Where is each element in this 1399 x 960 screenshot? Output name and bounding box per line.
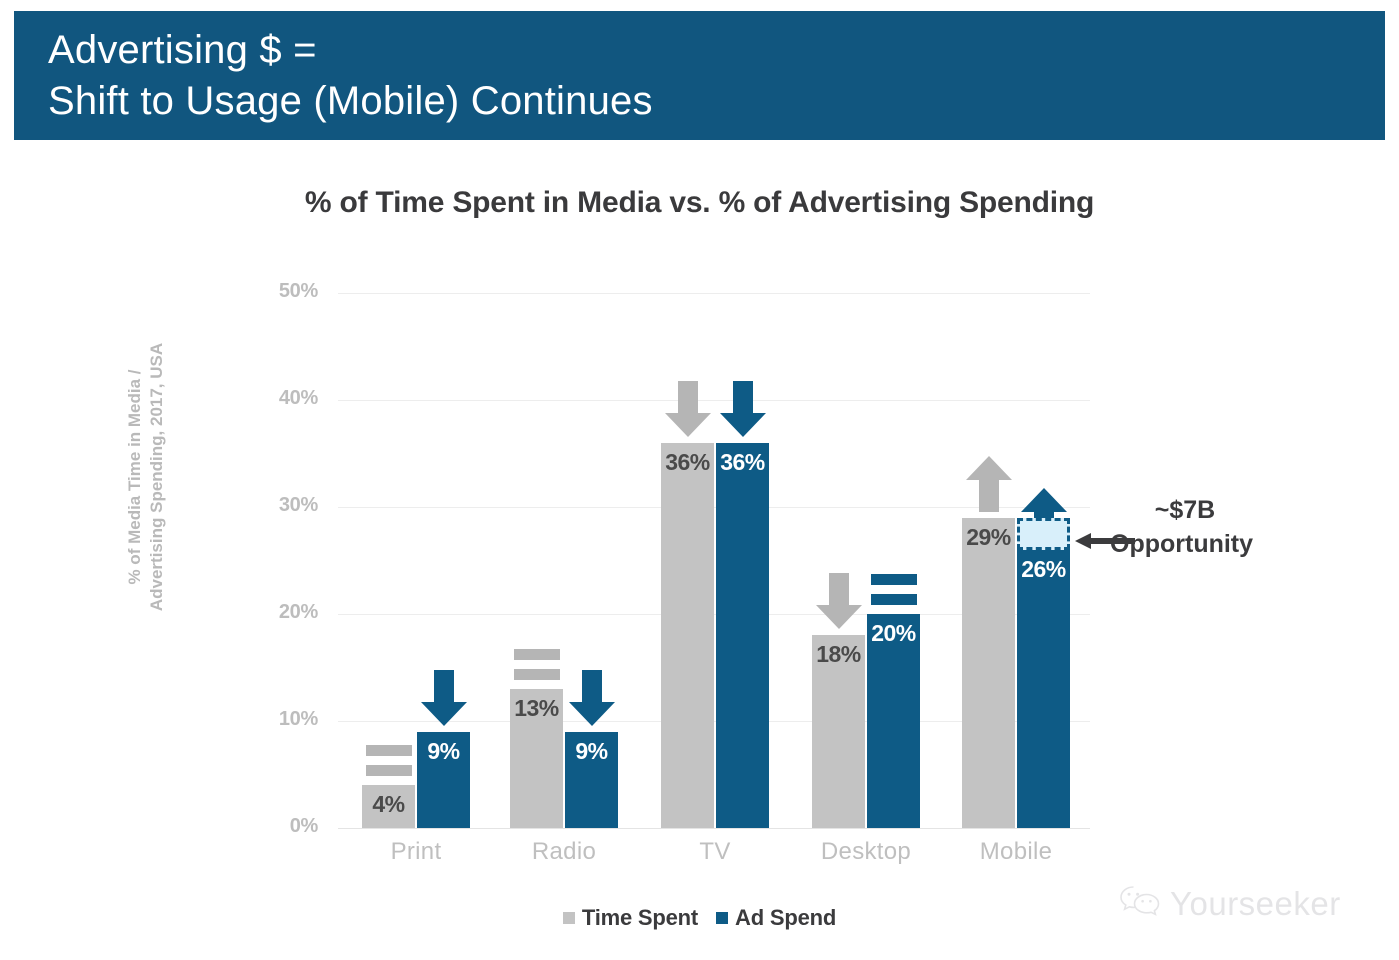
x-tick-radio: Radio [478, 838, 650, 866]
y-tick-0: 0% [256, 815, 318, 838]
trend-down-icon [569, 670, 615, 726]
legend-swatch [716, 912, 728, 924]
watermark: Yourseeker [1119, 884, 1341, 923]
bar-radio-ad-spend: 9% [565, 732, 618, 828]
x-tick-desktop: Desktop [780, 838, 952, 866]
gridline-50 [338, 293, 1090, 294]
trend-down-icon [720, 381, 766, 437]
annotation-arrow-icon [1075, 531, 1135, 556]
legend-label: Time Spent [582, 905, 698, 931]
bar-desktop-ad-spend: 20% [867, 614, 920, 828]
bar-tv-ad-spend: 36% [716, 443, 769, 828]
gridline-0 [338, 828, 1090, 829]
gridline-40 [338, 400, 1090, 401]
bar-tv-time-spent: 36% [661, 443, 714, 828]
x-tick-mobile: Mobile [930, 838, 1102, 866]
trend-equal-icon [514, 647, 560, 683]
bar-value-label: 4% [362, 791, 415, 818]
trend-down-icon [421, 670, 467, 726]
bar-print-ad-spend: 9% [417, 732, 470, 828]
bar-print-time-spent: 4% [362, 785, 415, 828]
legend-label: Ad Spend [735, 905, 836, 931]
legend-item-ad-spend[interactable]: Ad Spend [716, 905, 836, 931]
x-tick-tv: TV [629, 838, 801, 866]
y-tick-50: 50% [256, 280, 318, 303]
bar-value-label: 29% [962, 524, 1015, 551]
bar-value-label: 9% [565, 738, 618, 765]
trend-equal-icon [366, 743, 412, 779]
x-tick-print: Print [330, 838, 502, 866]
opportunity-amount: ~$7B [1110, 493, 1260, 527]
legend-item-time-spent[interactable]: Time Spent [563, 905, 698, 931]
bar-mobile-time-spent: 29% [962, 518, 1015, 828]
bar-value-label: 26% [1017, 556, 1070, 583]
bar-value-label: 13% [510, 695, 563, 722]
y-tick-40: 40% [256, 387, 318, 410]
trend-equal-icon [871, 572, 917, 608]
trend-down-icon [665, 381, 711, 437]
bar-value-label: 36% [661, 449, 714, 476]
y-tick-20: 20% [256, 601, 318, 624]
bar-value-label: 9% [417, 738, 470, 765]
bar-desktop-time-spent: 18% [812, 635, 865, 828]
y-tick-10: 10% [256, 708, 318, 731]
legend-swatch [563, 912, 575, 924]
chart-container: % of Time Spent in Media vs. % of Advert… [0, 0, 1399, 960]
watermark-text: Yourseeker [1170, 885, 1341, 923]
trend-up-icon [966, 456, 1012, 512]
chart-title: % of Time Spent in Media vs. % of Advert… [0, 186, 1399, 220]
y-axis-title: % of Media Time in Media / Advertising S… [124, 287, 168, 667]
bar-value-label: 36% [716, 449, 769, 476]
wechat-icon [1119, 884, 1161, 923]
opportunity-gap-block [1017, 518, 1070, 550]
bar-radio-time-spent: 13% [510, 689, 563, 828]
bar-value-label: 18% [812, 641, 865, 668]
y-tick-30: 30% [256, 494, 318, 517]
trend-down-icon [816, 573, 862, 629]
bar-mobile-ad-spend: 26% [1017, 550, 1070, 828]
bar-value-label: 20% [867, 620, 920, 647]
